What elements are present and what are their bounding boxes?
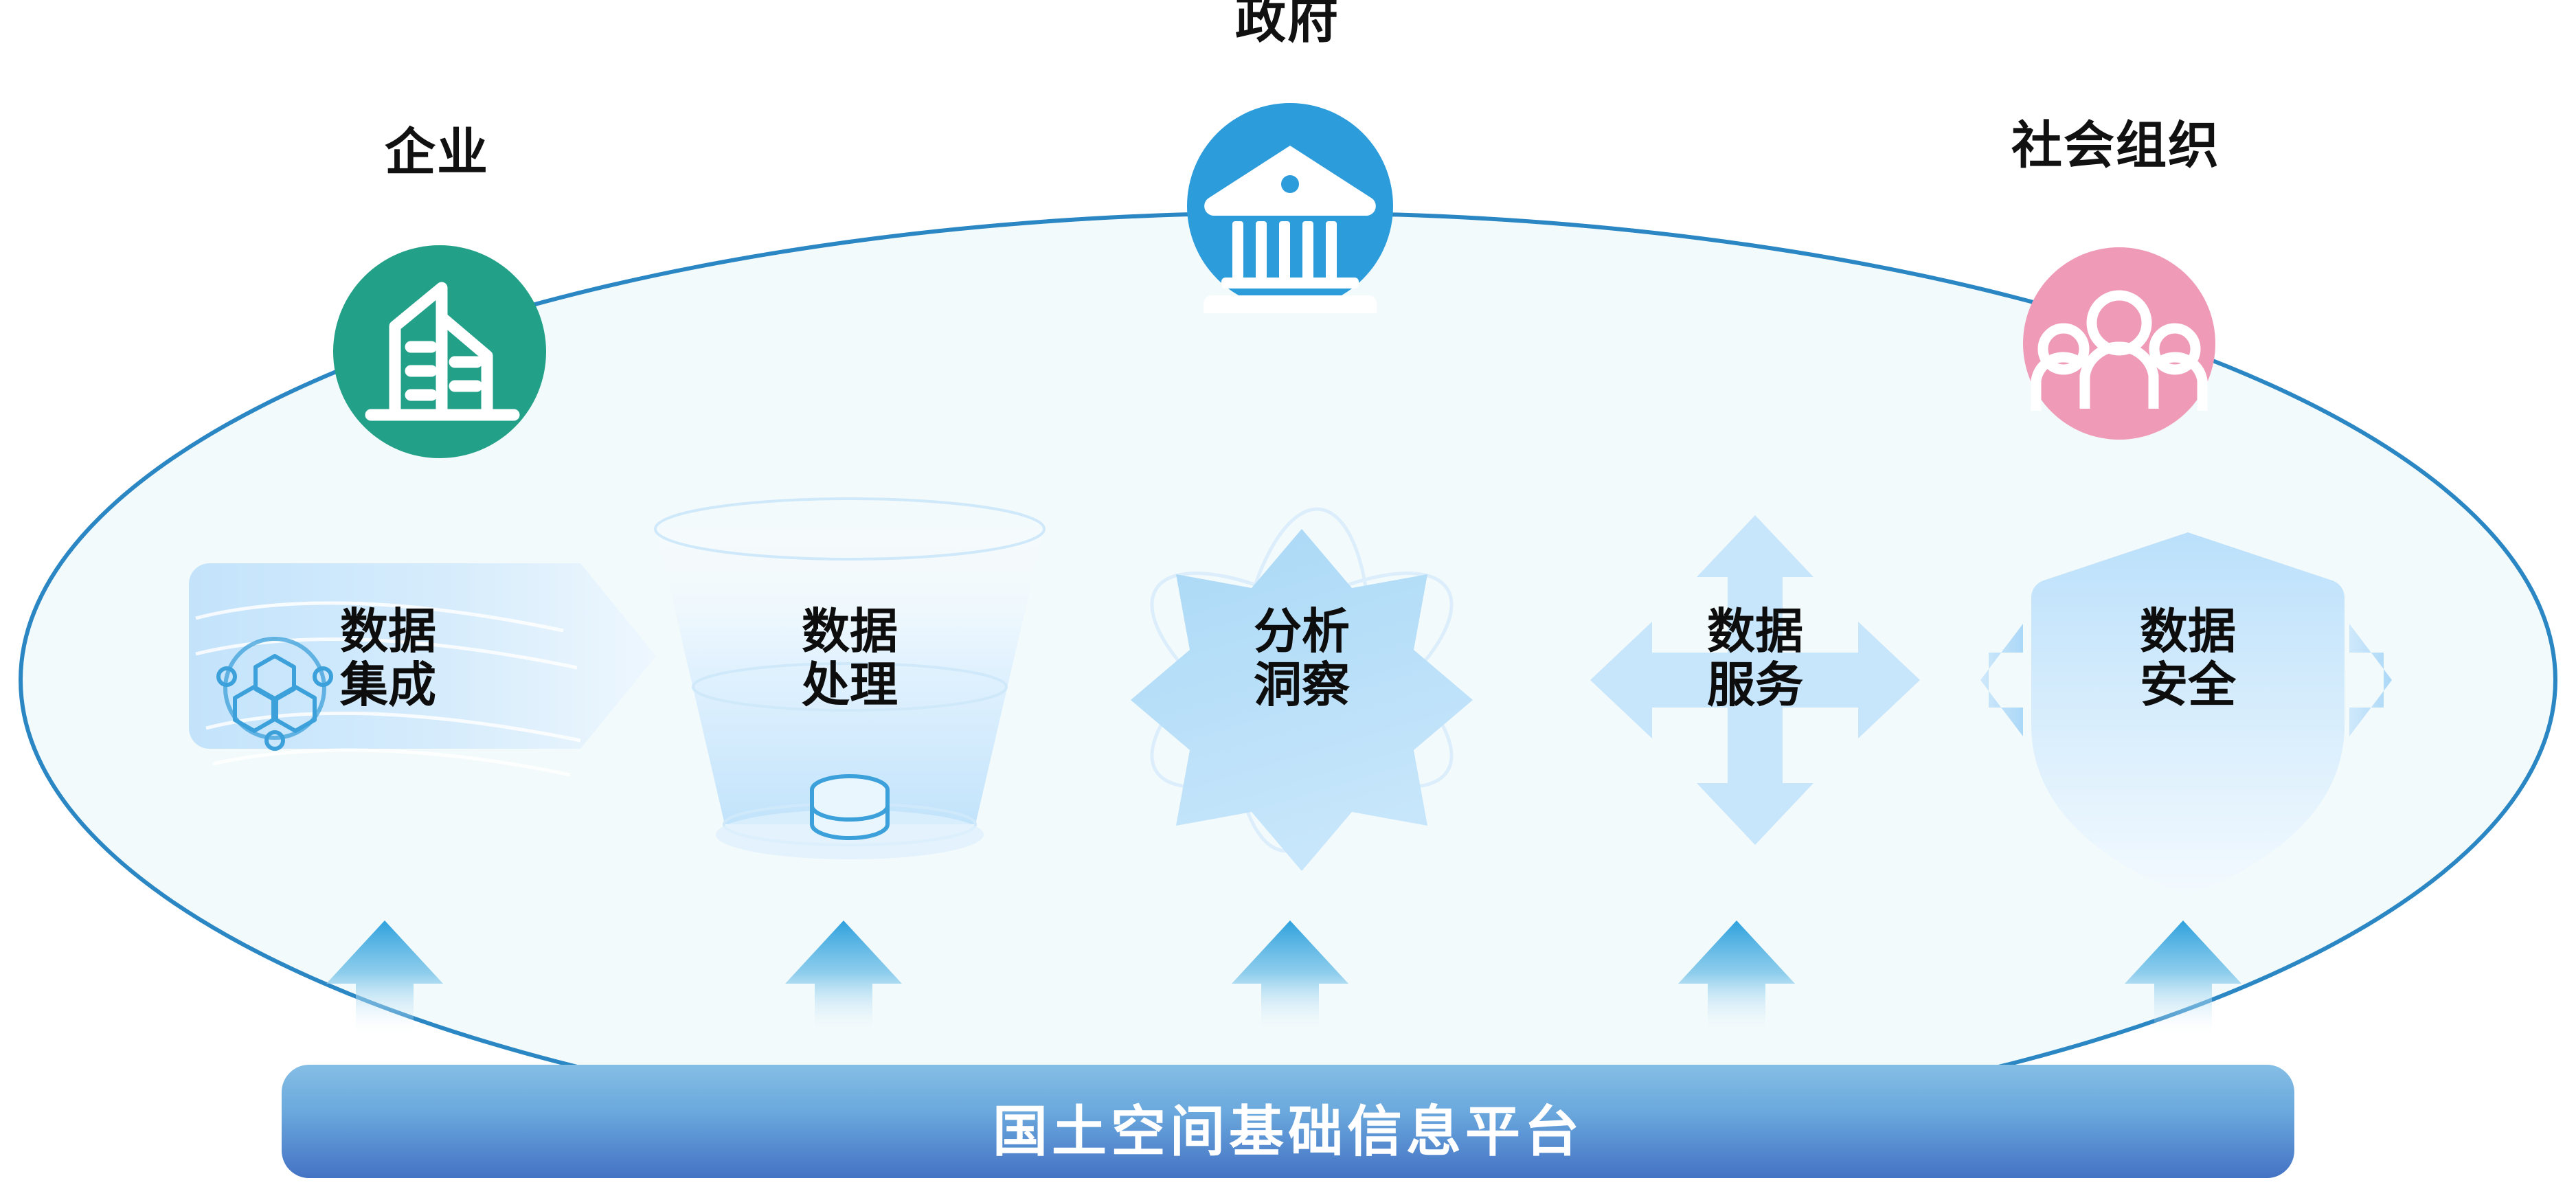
module-line-1: 分析 [1199, 604, 1405, 658]
actor-label-enterprise: 企业 [385, 127, 489, 178]
module-line-2: 服务 [1652, 658, 1858, 712]
module-line-1: 数据 [2085, 604, 2291, 658]
database-icon [812, 776, 888, 838]
actor-label-government: 政府 [1235, 0, 1340, 45]
actor-social-organization[interactable] [2023, 247, 2215, 440]
platform-banner-label: 国土空间基础信息平台 [0, 1087, 2576, 1167]
module-line-2: 处理 [747, 658, 953, 712]
module-line-1: 数据 [747, 604, 953, 658]
module-label-data-security: 数据 安全 [2085, 604, 2291, 712]
actor-enterprise[interactable] [333, 245, 546, 458]
module-line-2: 集成 [285, 658, 491, 712]
diagram-canvas: 企业 政府 社会组织 数据 集成 数据 处理 分析 洞察 数据 服务 数据 安全… [0, 0, 2576, 1187]
module-line-2: 安全 [2085, 658, 2291, 712]
module-line-1: 数据 [1652, 604, 1858, 658]
module-line-2: 洞察 [1199, 658, 1405, 712]
module-label-analysis-insight: 分析 洞察 [1199, 604, 1405, 712]
module-label-data-integration: 数据 集成 [285, 604, 491, 712]
actor-label-social-organization: 社会组织 [2011, 120, 2220, 171]
module-label-data-service: 数据 服务 [1652, 604, 1858, 712]
module-label-data-processing: 数据 处理 [747, 604, 953, 712]
module-line-1: 数据 [285, 604, 491, 658]
